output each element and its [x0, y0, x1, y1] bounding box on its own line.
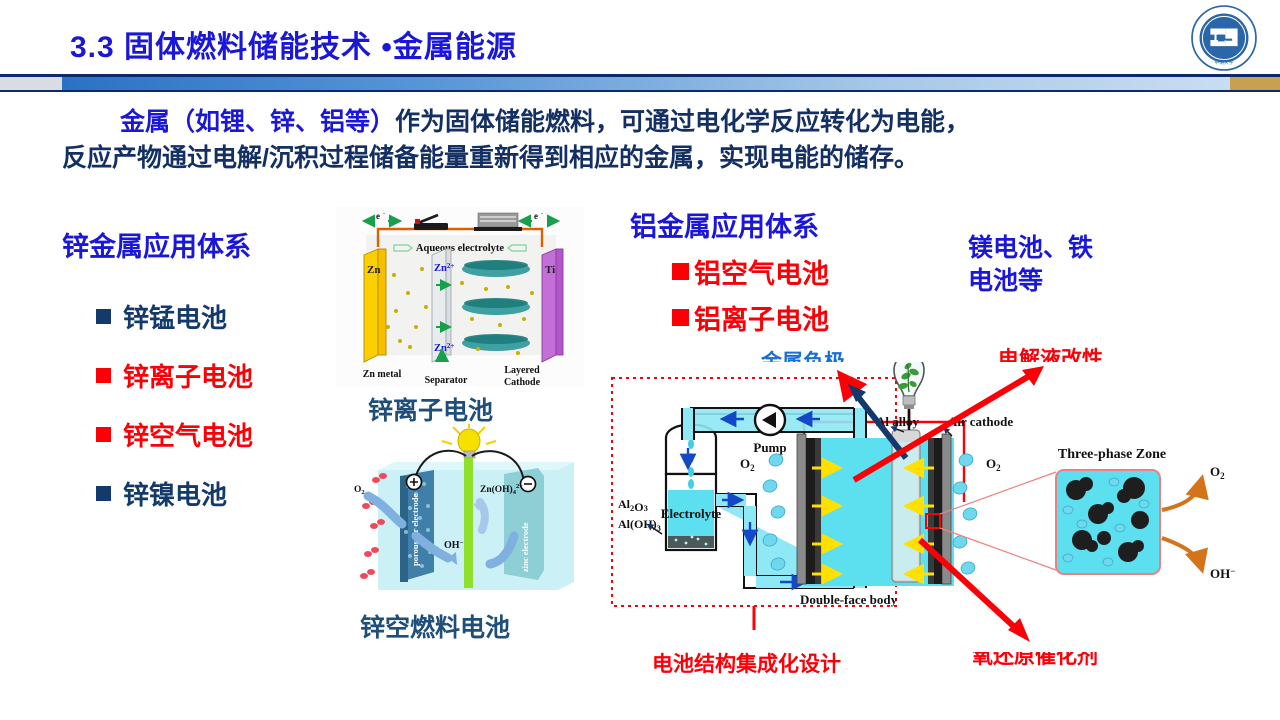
title-divider-line-2: [0, 90, 1280, 92]
other-line-2: 电池等: [968, 267, 1043, 295]
bullet-square-icon: [96, 368, 111, 383]
other-line-1: 镁电池、铁: [968, 234, 1093, 262]
accent-bar-grey-segment: [0, 77, 62, 90]
accent-bar-tan-segment: [1230, 77, 1280, 90]
bullet-label: 锌镍电池: [123, 475, 227, 512]
slide-root: 3.3 固体燃料储能技术 •金属能源 中南大学 金属（如锂、锌、铝等）作为固体储…: [0, 0, 1280, 720]
ti-cathode-label: Ti: [545, 264, 555, 276]
intro-rest: 作为固体储能燃料，可通过电化学反应转化为电能，: [395, 108, 970, 136]
porous-air-electrode-label: porous air electrode: [410, 494, 420, 566]
caption-zinc-air-fuel-cell: 锌空燃料电池: [360, 608, 510, 644]
zinc-air-fuel-cell-figure: porous air electrode zinc electrode O2: [352, 424, 584, 604]
central-south-university-logo-icon: 中南大学: [1190, 4, 1258, 72]
svg-text:e: e: [376, 211, 380, 221]
bullet-square-icon: [96, 427, 111, 442]
callout-structure-design: 电池结构集成化设计: [652, 648, 841, 678]
zinc-electrode-label: zinc electrode: [520, 522, 530, 572]
zinc-section-heading: 锌金属应用体系: [62, 225, 251, 264]
bullet-label: 铝离子电池: [694, 298, 829, 337]
zinc-ion-battery-diagram-svg: e - e - Aqueous electrolyte: [336, 207, 584, 387]
title-accent-bar: [0, 77, 1280, 90]
separator-caption: Separator: [425, 375, 468, 386]
bullet-zinc-ion: 锌离子电池: [96, 357, 253, 394]
zinc-ion-battery-figure: e - e - Aqueous electrolyte: [336, 207, 584, 387]
pump-label: Pump: [753, 440, 786, 455]
aloh3-label: Al(OH)3: [618, 517, 661, 533]
bullet-square-icon: [96, 309, 111, 324]
bullet-zinc-manganese: 锌锰电池: [96, 298, 227, 335]
zn-metal-caption: Zn metal: [363, 369, 402, 380]
intro-lead: 金属（如锂、锌、铝等）: [120, 108, 395, 136]
bullet-aluminum-air: 铝空气电池: [672, 252, 829, 291]
bullet-zinc-nickel: 锌镍电池: [96, 475, 227, 512]
page-title: 3.3 固体燃料储能技术 •金属能源: [70, 22, 517, 66]
bullet-label: 锌锰电池: [123, 298, 227, 335]
svg-text:-: -: [541, 211, 543, 217]
bullet-square-icon: [672, 263, 689, 280]
svg-text:e: e: [534, 211, 538, 221]
zn-anode-label: Zn: [367, 264, 380, 276]
aluminum-air-battery-diagram-svg: Electrolyte Al2O3 Al(OH)3 Pump: [604, 362, 1274, 652]
electrolyte-label: Aqueous electrolyte: [416, 243, 505, 254]
accent-bar-blue-gradient: [62, 77, 1230, 90]
cathode-caption: Cathode: [504, 377, 541, 387]
zinc-air-fuel-cell-diagram-svg: porous air electrode zinc electrode O2: [352, 424, 584, 604]
other-batteries-text: 镁电池、铁 电池等: [968, 232, 1158, 298]
bullet-square-icon: [672, 309, 689, 326]
svg-text:-: -: [383, 211, 385, 217]
bullet-label: 锌离子电池: [123, 357, 253, 394]
bullet-aluminum-ion: 铝离子电池: [672, 298, 829, 337]
aluminum-air-battery-figure: Electrolyte Al2O3 Al(OH)3 Pump: [604, 362, 1274, 652]
intro-paragraph: 金属（如锂、锌、铝等）作为固体储能燃料，可通过电化学反应转化为电能， 反应产物通…: [62, 104, 1222, 177]
layered-caption: Layered: [504, 365, 540, 376]
aluminum-section-heading: 铝金属应用体系: [630, 205, 819, 244]
bullet-label: 锌空气电池: [123, 416, 253, 453]
double-face-body-label: Double-face body: [800, 592, 898, 607]
bullet-square-icon: [96, 486, 111, 501]
three-phase-zone-label: Three-phase Zone: [1058, 447, 1166, 462]
intro-line2: 反应产物通过电解/沉积过程储备能量重新得到相应的金属，实现电能的储存。: [62, 144, 919, 172]
bullet-label: 铝空气电池: [694, 252, 829, 291]
electrolyte-tank-label: Electrolyte: [661, 506, 722, 521]
caption-zinc-ion-battery: 锌离子电池: [368, 391, 493, 427]
bullet-zinc-air: 锌空气电池: [96, 416, 253, 453]
